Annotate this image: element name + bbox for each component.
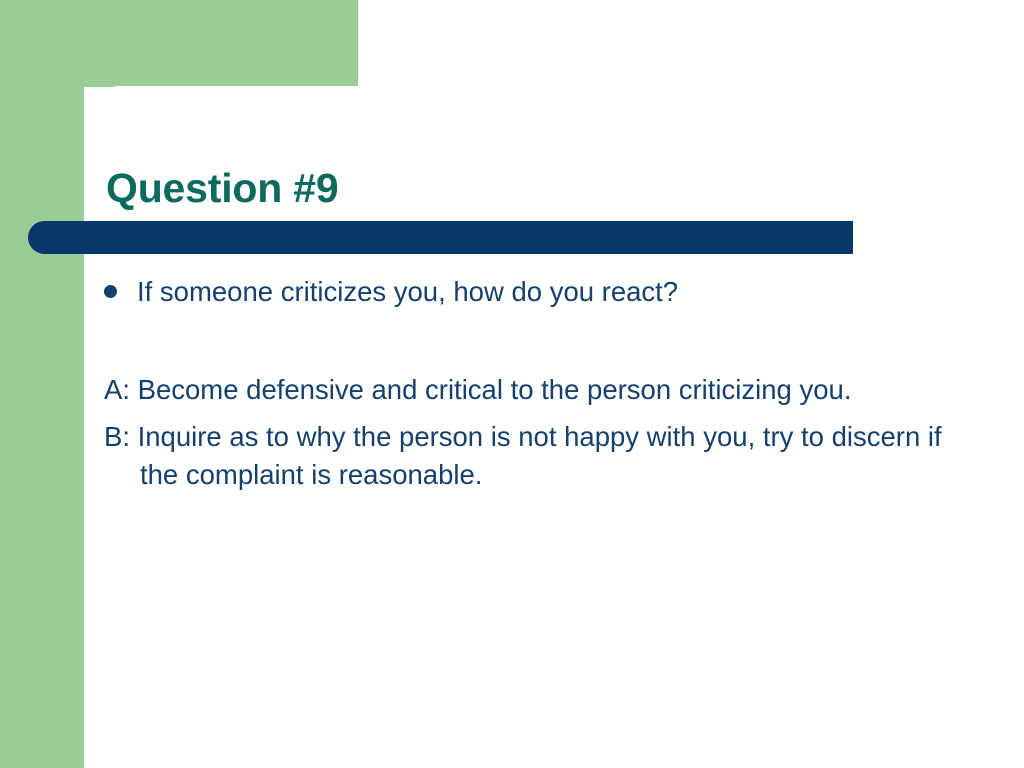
answer-option-a: A: Become defensive and critical to the … [104,371,964,409]
bullet-dot-icon [104,285,117,298]
slide-body: If someone criticizes you, how do you re… [104,275,964,494]
slide-canvas: Question #9 If someone criticizes you, h… [0,0,1024,768]
list-item-label: If someone criticizes you, how do you re… [137,275,964,309]
list-item: If someone criticizes you, how do you re… [104,275,964,309]
green-top-block [0,0,358,87]
green-sidebar-band [0,0,84,768]
page-title: Question #9 [106,166,906,211]
title-divider-bar [28,221,853,254]
answer-option-b: B: Inquire as to why the person is not h… [104,418,964,494]
